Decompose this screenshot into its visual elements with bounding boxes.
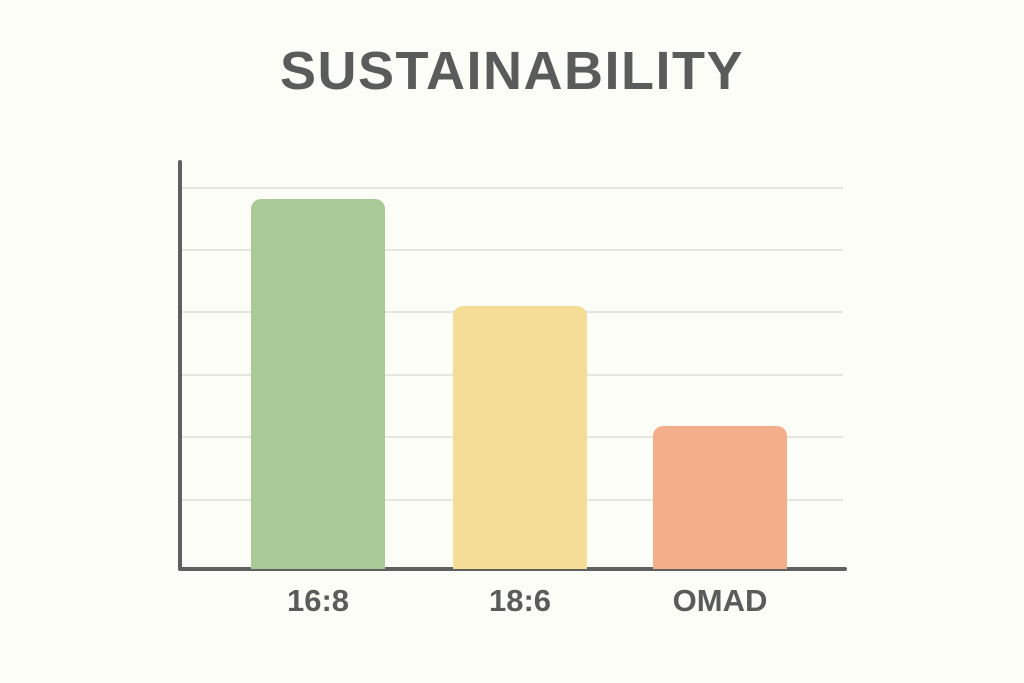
x-axis-label-16-8: 16:8 [208, 585, 428, 616]
gridline [180, 187, 843, 189]
bar-omad[interactable] [653, 426, 787, 569]
x-axis-label-omad: OMAD [610, 585, 830, 616]
y-axis-line [178, 160, 182, 570]
plot-area: 16:8 18:6 OMAD [0, 0, 1024, 683]
bar-18-6[interactable] [453, 306, 587, 569]
x-axis-label-18-6: 18:6 [410, 585, 630, 616]
bar-16-8[interactable] [251, 199, 385, 569]
sustainability-bar-chart: SUSTAINABILITY 16:8 18:6 OMAD [0, 0, 1024, 683]
